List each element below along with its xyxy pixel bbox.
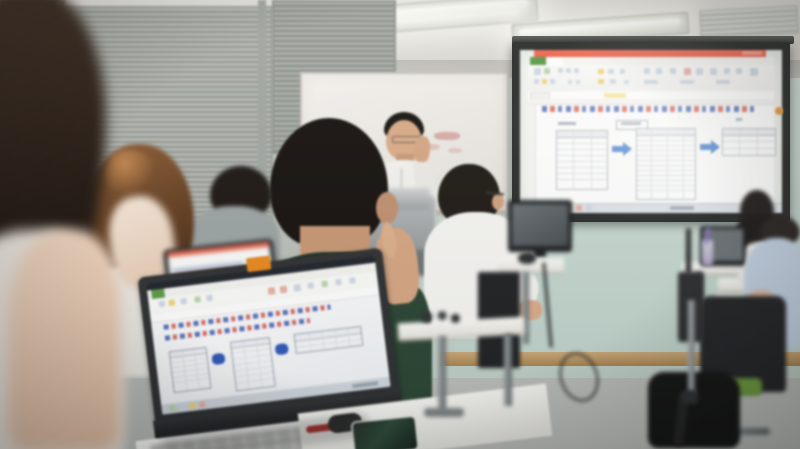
- laptop-bezel-sticker: [246, 255, 272, 272]
- mini-result-table: [293, 326, 363, 354]
- mini-middle-table: [230, 337, 276, 392]
- desk-foot: [424, 408, 464, 417]
- mini-source-table: [169, 347, 212, 393]
- column-header-row: [528, 99, 774, 105]
- mini-arrow-2-icon: [275, 343, 289, 356]
- sheet-heading-text: [542, 106, 754, 112]
- foreground-arm: [8, 230, 120, 449]
- mini-arrow-1-icon: [211, 353, 225, 366]
- label-box-text: [621, 122, 641, 125]
- result-table: [722, 128, 776, 156]
- ceiling-vent: [699, 5, 798, 38]
- green-student-ear: [376, 192, 398, 224]
- laptop-screen: [146, 256, 390, 415]
- cart-pole: [688, 300, 695, 394]
- selected-cell-highlight: [604, 93, 626, 98]
- tab-file[interactable]: [530, 57, 546, 65]
- result-table-caption: [736, 118, 742, 121]
- arrow-1-icon: [612, 142, 632, 156]
- desk-center-left-leg: [438, 336, 446, 412]
- source-table-caption: [558, 122, 576, 125]
- spreadsheet-titlebar: [534, 50, 766, 57]
- desk-items-cables: [418, 310, 462, 324]
- source-table: [556, 130, 608, 190]
- desk-center-left-leg-2: [504, 334, 512, 406]
- classroom-photo: [0, 0, 800, 449]
- middle-table: [636, 128, 696, 200]
- cart-caster: [682, 390, 698, 404]
- tab-home[interactable]: [548, 57, 563, 65]
- projector-screen: [520, 50, 782, 213]
- monitor-center: [508, 200, 572, 258]
- arrow-2-icon: [700, 140, 720, 154]
- mic-stand: [686, 228, 691, 274]
- wall-marker-dot: [775, 107, 783, 115]
- mouse[interactable]: [518, 252, 536, 264]
- student-ear: [492, 194, 504, 210]
- window-controls: [742, 51, 762, 55]
